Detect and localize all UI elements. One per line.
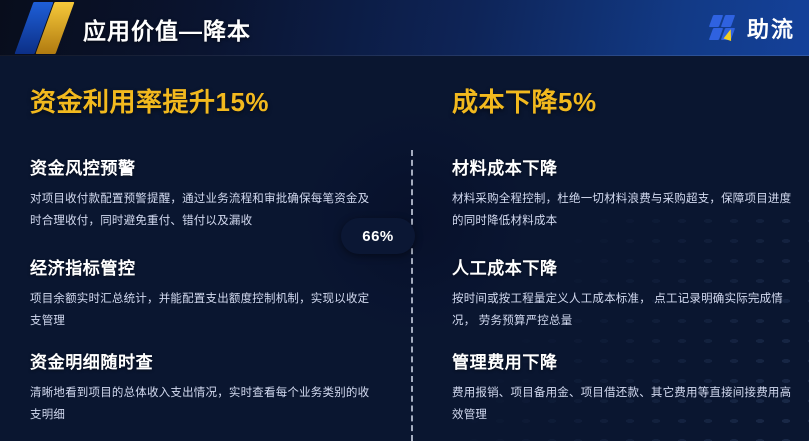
list-item: 管理费用下降 费用报销、项目备用金、项目借还款、其它费用等直接间接费用高效管理: [452, 348, 797, 427]
item-description: 按时间或按工程量定义人工成本标准， 点工记录明确实际完成情况， 劳务预算严控总量: [452, 288, 797, 333]
page-title: 应用价值—降本: [83, 12, 251, 46]
list-item: 资金风控预警 对项目收付款配置预警提醒，通过业务流程和审批确保每笔资金及时合理收…: [30, 154, 380, 233]
list-item: 经济指标管控 项目余额实时汇总统计，并能配置支出额度控制机制，实现以收定支管理: [30, 254, 380, 333]
item-title: 管理费用下降: [452, 348, 797, 373]
column-right-heading: 成本下降5%: [452, 82, 597, 119]
slide-root: 应用价值—降本 助流 66% 资金利用率提升15% 资金风控预警 对项目收付款配…: [0, 0, 809, 441]
item-title: 经济指标管控: [30, 254, 380, 279]
item-title: 材料成本下降: [452, 154, 797, 179]
parallelogram-logo-icon: [18, 2, 72, 54]
zhuliu-lightning-icon: [710, 13, 740, 43]
item-description: 清晰地看到项目的总体收入支出情况，实时查看每个业务类别的收支明细: [30, 382, 380, 427]
item-description: 对项目收付款配置预警提醒，通过业务流程和审批确保每笔资金及时合理收付，同时避免重…: [30, 188, 380, 233]
slide-body: 66% 资金利用率提升15% 资金风控预警 对项目收付款配置预警提醒，通过业务流…: [0, 56, 809, 441]
item-description: 材料采购全程控制，杜绝一切材料浪费与采购超支，保障项目进度的同时降低材料成本: [452, 188, 797, 233]
list-item: 人工成本下降 按时间或按工程量定义人工成本标准， 点工记录明确实际完成情况， 劳…: [452, 254, 797, 333]
item-title: 资金风控预警: [30, 154, 380, 179]
brand-logo: 助流: [710, 10, 795, 46]
brand-name: 助流: [747, 12, 795, 44]
item-description: 费用报销、项目备用金、项目借还款、其它费用等直接间接费用高效管理: [452, 382, 797, 427]
item-description: 项目余额实时汇总统计，并能配置支出额度控制机制，实现以收定支管理: [30, 288, 380, 333]
list-item: 材料成本下降 材料采购全程控制，杜绝一切材料浪费与采购超支，保障项目进度的同时降…: [452, 154, 797, 233]
slide-header: 应用价值—降本 助流: [0, 0, 809, 56]
list-item: 资金明细随时查 清晰地看到项目的总体收入支出情况，实时查看每个业务类别的收支明细: [30, 348, 380, 427]
dashed-column-divider: [411, 150, 413, 441]
item-title: 资金明细随时查: [30, 348, 380, 373]
column-left-heading: 资金利用率提升15%: [30, 82, 269, 119]
item-title: 人工成本下降: [452, 254, 797, 279]
